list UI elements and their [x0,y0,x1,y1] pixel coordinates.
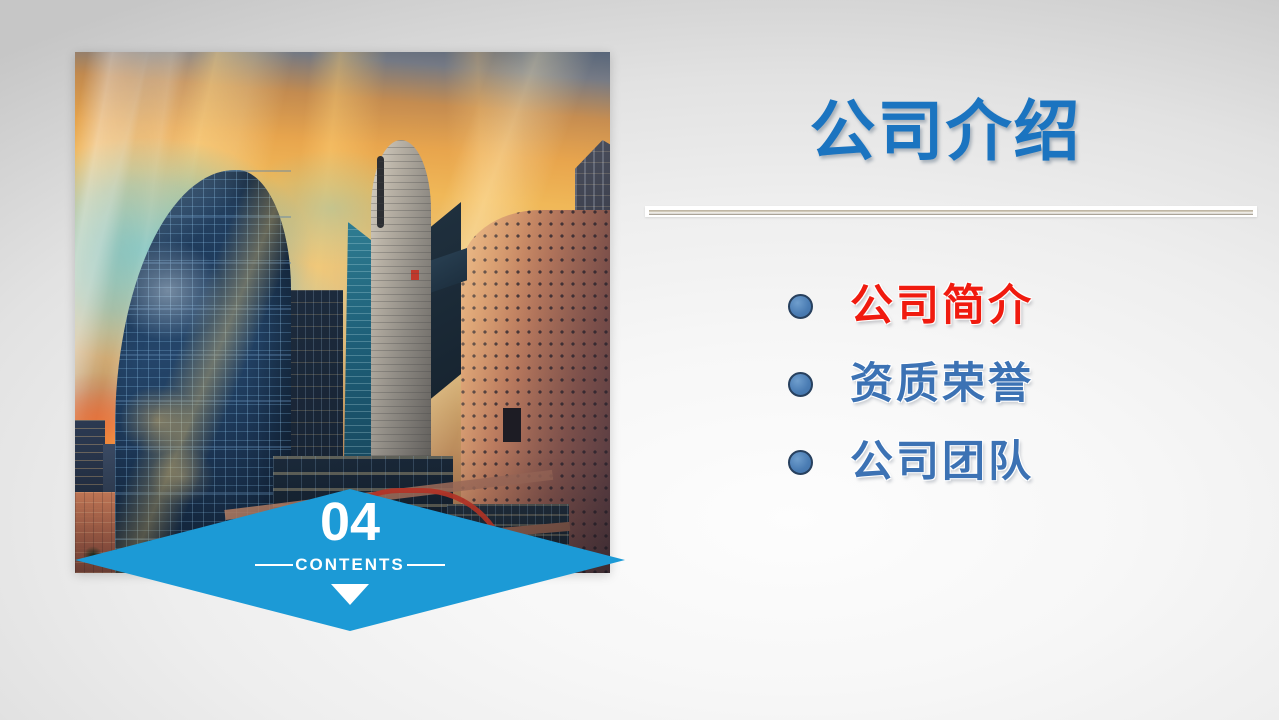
list-item-label: 公司团队 [850,440,1034,485]
list-item-label: 公司简介 [850,284,1034,329]
contents-rule-left [255,564,293,566]
contents-rule-right [407,564,445,566]
section-diamond-content: 04 CONTENTS [75,489,625,631]
title-divider [645,206,1257,217]
bullet-circle-icon [788,372,813,397]
section-number: 04 [320,495,380,549]
title-divider-bevel [649,210,1253,215]
list-item[interactable]: 资质荣誉 [788,362,1034,407]
agenda-bullet-list: 公司简介 资质荣誉 公司团队 [788,284,1034,485]
presentation-slide: 04 CONTENTS 公司介绍 公司简介 资质荣誉 公司团队 [0,0,1279,720]
down-triangle-icon [331,584,369,605]
contents-label-row: CONTENTS [255,555,445,575]
bullet-circle-icon [788,450,813,475]
right-content-column: 公司介绍 公司简介 资质荣誉 公司团队 [640,0,1279,720]
list-item[interactable]: 公司团队 [788,440,1034,485]
contents-label: CONTENTS [293,555,407,575]
bullet-circle-icon [788,294,813,319]
list-item[interactable]: 公司简介 [788,284,1034,329]
page-title: 公司介绍 [640,78,1251,174]
list-item-label: 资质荣誉 [850,362,1034,407]
